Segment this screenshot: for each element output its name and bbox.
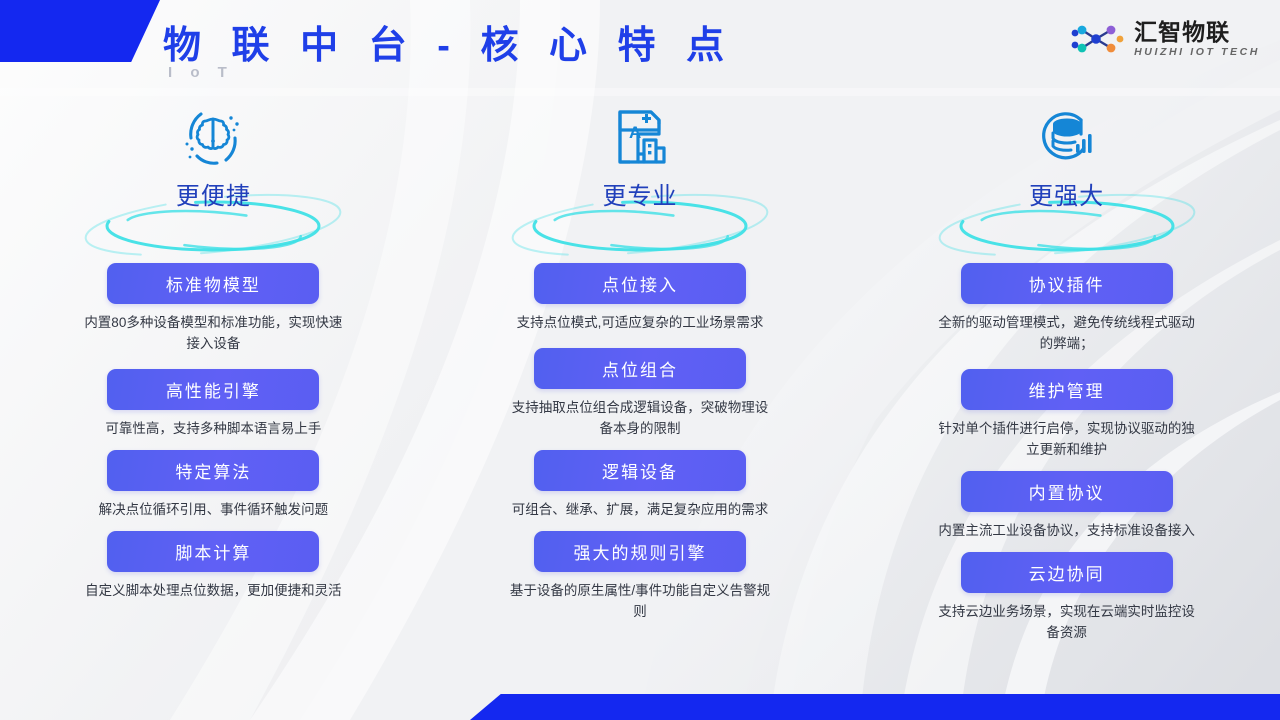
feature-card: 内置协议 内置主流工业设备协议，支持标准设备接入 xyxy=(853,471,1280,542)
feature-desc: 内置主流工业设备协议，支持标准设备接入 xyxy=(934,521,1200,542)
feature-card: 强大的规则引擎 基于设备的原生属性/事件功能自定义告警规则 xyxy=(427,531,854,623)
logo-name-cn: 汇智物联 xyxy=(1134,20,1260,44)
feature-column-3: 更强大 协议插件 全新的驱动管理模式，避免传统线程式驱动的弊端； 维护管理 针对… xyxy=(853,96,1280,720)
feature-desc: 内置80多种设备模型和标准功能，实现快速接入设备 xyxy=(80,313,346,355)
feature-pill[interactable]: 维护管理 xyxy=(961,369,1173,410)
feature-pill[interactable]: 标准物模型 xyxy=(107,263,319,304)
feature-desc: 支持点位模式,可适应复杂的工业场景需求 xyxy=(507,313,773,334)
brain-gear-icon xyxy=(177,104,249,170)
feature-pill[interactable]: 协议插件 xyxy=(961,263,1173,304)
feature-card: 标准物模型 内置80多种设备模型和标准功能，实现快速接入设备 xyxy=(0,263,427,359)
page-title: 物 联 中 台 - 核 心 特 点 xyxy=(163,14,734,69)
molecule-network-icon xyxy=(1068,19,1126,59)
feature-desc: 可靠性高，支持多种脚本语言易上手 xyxy=(80,419,346,440)
bottom-right-accent-shape xyxy=(470,694,1280,720)
feature-desc: 自定义脚本处理点位数据，更加便捷和灵活 xyxy=(80,581,346,602)
feature-pill[interactable]: 点位组合 xyxy=(534,348,746,389)
column-heading: 更强大 xyxy=(1029,176,1104,211)
feature-desc: 基于设备的原生属性/事件功能自定义告警规则 xyxy=(507,581,773,623)
feature-pill[interactable]: 脚本计算 xyxy=(107,531,319,572)
feature-desc: 针对单个插件进行启停，实现协议驱动的独立更新和维护 xyxy=(934,419,1200,461)
column-cards: 协议插件 全新的驱动管理模式，避免传统线程式驱动的弊端； 维护管理 针对单个插件… xyxy=(853,263,1280,653)
feature-card: 高性能引擎 可靠性高，支持多种脚本语言易上手 xyxy=(0,369,427,440)
feature-pill[interactable]: 逻辑设备 xyxy=(534,450,746,491)
feature-card: 逻辑设备 可组合、继承、扩展，满足复杂应用的需求 xyxy=(427,450,854,521)
column-heading: 更专业 xyxy=(603,176,678,211)
logo-text-block: 汇智物联 HUIZHI IOT TECH xyxy=(1134,20,1260,58)
brand-logo: 汇智物联 HUIZHI IOT TECH xyxy=(1068,14,1260,64)
database-stack-icon xyxy=(1031,104,1103,170)
feature-card: 协议插件 全新的驱动管理模式，避免传统线程式驱动的弊端； xyxy=(853,263,1280,359)
feature-pill[interactable]: 强大的规则引擎 xyxy=(534,531,746,572)
feature-pill[interactable]: 内置协议 xyxy=(961,471,1173,512)
feature-pill[interactable]: 高性能引擎 xyxy=(107,369,319,410)
feature-card: 点位接入 支持点位模式,可适应复杂的工业场景需求 xyxy=(427,263,854,338)
slide-header: 物 联 中 台 - 核 心 特 点 I o T 汇智物 xyxy=(0,0,1280,92)
page-subtitle: I o T xyxy=(168,64,234,81)
feature-desc: 支持抽取点位组合成逻辑设备，突破物理设备本身的限制 xyxy=(507,398,773,440)
column-cards: 点位接入 支持点位模式,可适应复杂的工业场景需求 点位组合 支持抽取点位组合成逻… xyxy=(427,263,854,633)
feature-pill[interactable]: 云边协同 xyxy=(961,552,1173,593)
feature-card: 脚本计算 自定义脚本处理点位数据，更加便捷和灵活 xyxy=(0,531,427,602)
feature-column-2: A 更专业 xyxy=(427,96,854,720)
feature-card: 特定算法 解决点位循环引用、事件循环触发问题 xyxy=(0,450,427,521)
feature-card: 点位组合 支持抽取点位组合成逻辑设备，突破物理设备本身的限制 xyxy=(427,348,854,440)
feature-card: 维护管理 针对单个插件进行启停，实现协议驱动的独立更新和维护 xyxy=(853,369,1280,461)
feature-pill[interactable]: 特定算法 xyxy=(107,450,319,491)
column-cards: 标准物模型 内置80多种设备模型和标准功能，实现快速接入设备 高性能引擎 可靠性… xyxy=(0,263,427,612)
column-heading: 更便捷 xyxy=(176,176,251,211)
feature-columns: 更便捷 标准物模型 内置80多种设备模型和标准功能，实现快速接入设备 高性能引擎… xyxy=(0,96,1280,720)
feature-desc: 全新的驱动管理模式，避免传统线程式驱动的弊端； xyxy=(934,313,1200,355)
feature-desc: 解决点位循环引用、事件循环触发问题 xyxy=(80,500,346,521)
svg-text:A: A xyxy=(629,123,641,142)
feature-card: 云边协同 支持云边业务场景，实现在云端实时监控设备资源 xyxy=(853,552,1280,644)
feature-desc: 支持云边业务场景，实现在云端实时监控设备资源 xyxy=(934,602,1200,644)
a-plus-report-icon: A xyxy=(604,104,676,170)
feature-pill[interactable]: 点位接入 xyxy=(534,263,746,304)
logo-name-en: HUIZHI IOT TECH xyxy=(1134,46,1260,58)
slide-root: 物 联 中 台 - 核 心 特 点 I o T 汇智物 xyxy=(0,0,1280,720)
feature-desc: 可组合、继承、扩展，满足复杂应用的需求 xyxy=(507,500,773,521)
feature-column-1: 更便捷 标准物模型 内置80多种设备模型和标准功能，实现快速接入设备 高性能引擎… xyxy=(0,96,427,720)
